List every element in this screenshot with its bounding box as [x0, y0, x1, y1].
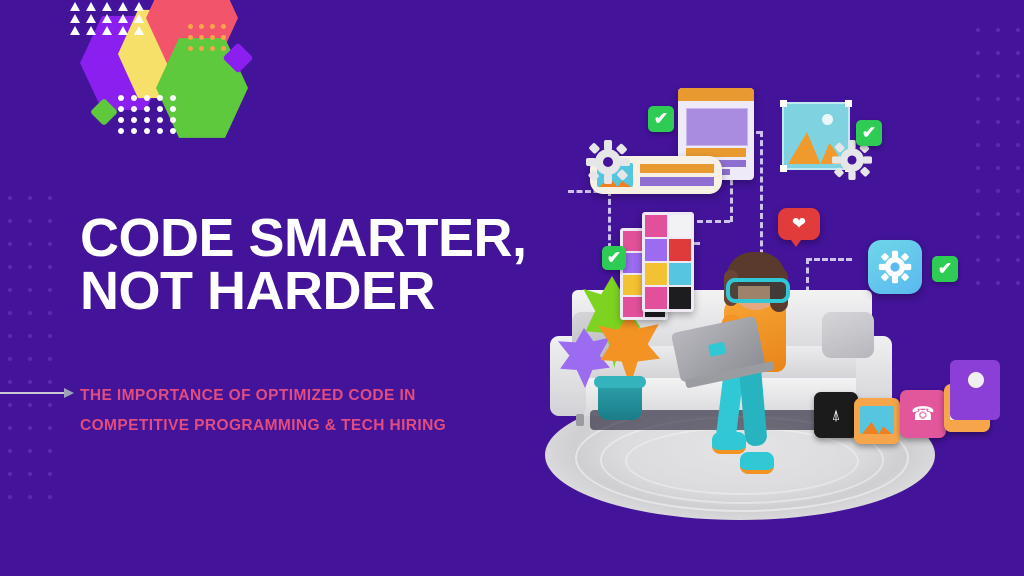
headline-line-2: NOT HARDER: [80, 265, 527, 318]
browser-title-bar: [678, 88, 754, 101]
subtitle-line-2: COMPETITIVE PROGRAMMING & TECH HIRING: [80, 411, 540, 441]
triangle-grid: [70, 2, 150, 34]
character-shoe: [740, 452, 774, 474]
swatch: [645, 263, 667, 285]
check-badge-3: ✔: [602, 246, 626, 270]
row-text-bar: [640, 164, 714, 173]
gear-glyph-icon: [878, 250, 912, 284]
character-shoe: [712, 432, 746, 454]
heart-icon: ❤: [792, 214, 806, 234]
frame-handle: [780, 165, 787, 172]
banner-canvas: CODE SMARTER, NOT HARDER THE IMPORTANCE …: [0, 0, 1024, 576]
gear-icon-large: [586, 140, 630, 184]
check-badge-4: ✔: [932, 256, 958, 282]
subtitle: THE IMPORTANCE OF OPTIMIZED CODE IN COMP…: [80, 381, 540, 441]
swatch: [623, 275, 643, 295]
developer-workspace-3d-illustration: ⍋ ☎: [520, 60, 1020, 530]
check-icon: ✔: [938, 259, 952, 279]
plant-pot-rim: [594, 376, 646, 388]
hexagon-cluster-logo: [60, 0, 290, 150]
frame-handle: [780, 100, 787, 107]
check-badge-2: ✔: [856, 120, 882, 146]
headline-line-1: CODE SMARTER,: [80, 212, 527, 265]
cube-stack-purple: [950, 360, 1000, 420]
dot-grid-white: [118, 95, 182, 141]
arrow-line: [0, 392, 66, 394]
check-icon: ✔: [654, 109, 668, 129]
gear-icon-small: [832, 140, 872, 180]
gear-tile-icon: [868, 240, 922, 294]
check-badge-1: ✔: [648, 106, 674, 132]
row-text-bar: [640, 177, 714, 186]
character-glasses: [726, 278, 790, 303]
page-title: CODE SMARTER, NOT HARDER: [80, 212, 527, 319]
swatch: [669, 215, 691, 237]
check-icon: ✔: [607, 248, 621, 268]
bubble-tail: [788, 236, 804, 247]
swatch: [623, 231, 643, 251]
swatch: [623, 253, 643, 273]
swatch: [623, 297, 643, 317]
swatch: [645, 215, 667, 237]
cube-image-inner: [860, 406, 894, 434]
left-dot-field: [8, 196, 62, 526]
swatch: [645, 287, 667, 309]
arrow-head: [64, 388, 74, 398]
swatch: [669, 263, 691, 285]
frame-handle: [845, 100, 852, 107]
cube-phone-icon: ☎: [900, 390, 946, 438]
cube-stack-purple-dot: [968, 372, 984, 388]
color-palette-card-front: [642, 212, 694, 312]
cube-image-icon: [854, 398, 900, 444]
arrow-right-icon: [0, 388, 78, 398]
subtitle-line-1: THE IMPORTANCE OF OPTIMIZED CODE IN: [80, 381, 540, 411]
cube-headphone-icon: ⍋: [814, 392, 858, 438]
swatch: [645, 239, 667, 261]
image-frame-sun: [822, 114, 833, 125]
swatch: [669, 287, 691, 309]
browser-image-placeholder: [686, 108, 748, 146]
check-icon: ✔: [862, 123, 876, 143]
dot-grid-orange: [188, 24, 232, 56]
person-with-laptop: [690, 252, 830, 482]
swatch: [669, 239, 691, 261]
